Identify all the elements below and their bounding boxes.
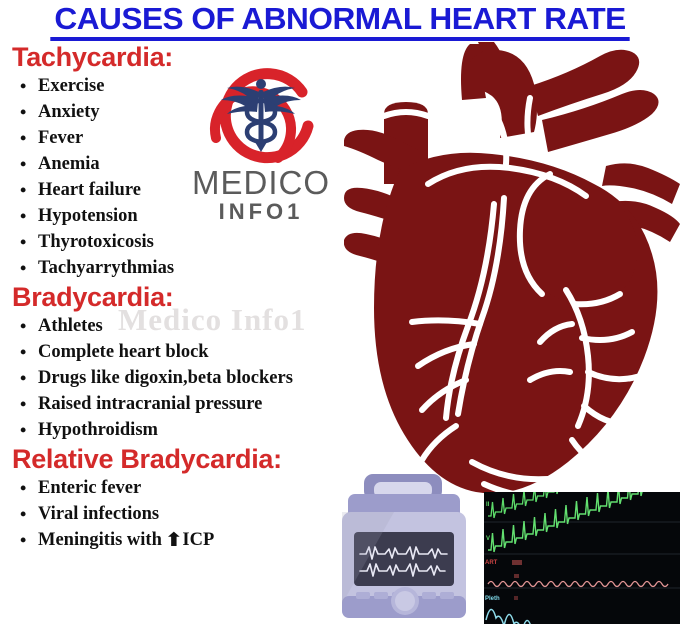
list-item: •Fever bbox=[0, 125, 372, 151]
list-bradycardia: •Athletes •Complete heart block •Drugs l… bbox=[0, 313, 372, 443]
list-item-label: Anxiety bbox=[38, 102, 100, 122]
list-item: •Meningitis with ⬆ICP bbox=[0, 527, 372, 553]
increased-arrow-icon: ⬆ bbox=[165, 531, 183, 550]
bullet-icon: • bbox=[20, 501, 26, 527]
bullet-icon: • bbox=[20, 365, 26, 391]
list-item: •Raised intracranial pressure bbox=[0, 391, 372, 417]
list-item: •Heart failure bbox=[0, 177, 372, 203]
list-item: •Enteric fever bbox=[0, 475, 372, 501]
bullet-icon: • bbox=[20, 475, 26, 501]
list-tachycardia: •Exercise •Anxiety •Fever •Anemia •Heart… bbox=[0, 73, 372, 281]
list-item-label: Exercise bbox=[38, 76, 104, 96]
list-item: •Hypotension bbox=[0, 203, 372, 229]
bullet-icon: • bbox=[20, 417, 26, 443]
bullet-icon: • bbox=[20, 177, 26, 203]
causes-content: Tachycardia: •Exercise •Anxiety •Fever •… bbox=[0, 40, 372, 553]
list-item-label: Complete heart block bbox=[38, 342, 209, 362]
list-item-label: Tachyarrythmias bbox=[38, 258, 174, 278]
list-item: •Athletes bbox=[0, 313, 372, 339]
section-heading-bradycardia: Bradycardia: bbox=[12, 282, 372, 312]
patient-monitor-device bbox=[334, 470, 486, 624]
list-item: •Complete heart block bbox=[0, 339, 372, 365]
list-item-label: Enteric fever bbox=[38, 478, 141, 498]
bullet-icon: • bbox=[20, 73, 26, 99]
list-relative-bradycardia: •Enteric fever •Viral infections •Mening… bbox=[0, 475, 372, 553]
list-item-label: Raised intracranial pressure bbox=[38, 394, 262, 414]
list-item: •Drugs like digoxin,beta blockers bbox=[0, 365, 372, 391]
list-item: •Anxiety bbox=[0, 99, 372, 125]
list-item-label: Anemia bbox=[38, 154, 100, 174]
list-item-label: Viral infections bbox=[38, 504, 159, 524]
list-item-label: Athletes bbox=[38, 316, 103, 336]
list-item-label: Hypotension bbox=[38, 206, 138, 226]
list-item: •Exercise bbox=[0, 73, 372, 99]
list-item: •Tachyarrythmias bbox=[0, 255, 372, 281]
list-item: •Hypothroidism bbox=[0, 417, 372, 443]
bullet-icon: • bbox=[20, 391, 26, 417]
ecg-label-art: ART bbox=[485, 560, 497, 567]
ecg-screen-photo: II V ART Pleth bbox=[484, 492, 680, 624]
anatomical-heart-illustration bbox=[344, 42, 680, 520]
infographic-poster: CAUSES OF ABNORMAL HEART RATE Medico Inf… bbox=[0, 0, 680, 624]
list-item: •Viral infections bbox=[0, 501, 372, 527]
bullet-icon: • bbox=[20, 99, 26, 125]
list-item-label: Hypothroidism bbox=[38, 420, 158, 440]
list-item-label: Meningitis with bbox=[38, 530, 166, 550]
bullet-icon: • bbox=[20, 527, 26, 553]
ecg-label-pleth: Pleth bbox=[485, 596, 500, 603]
ecg-lead-label-v: V bbox=[486, 536, 490, 543]
bullet-icon: • bbox=[20, 339, 26, 365]
list-item-label: Thyrotoxicosis bbox=[38, 232, 154, 252]
bullet-icon: • bbox=[20, 255, 26, 281]
list-item: •Anemia bbox=[0, 151, 372, 177]
bullet-icon: • bbox=[20, 229, 26, 255]
bullet-icon: • bbox=[20, 313, 26, 339]
ecg-lead-label-ii: II bbox=[486, 502, 489, 509]
list-item: •Thyrotoxicosis bbox=[0, 229, 372, 255]
bullet-icon: • bbox=[20, 125, 26, 151]
list-item-label: Heart failure bbox=[38, 180, 141, 200]
section-heading-relative-bradycardia: Relative Bradycardia: bbox=[12, 444, 372, 474]
list-item-label: Drugs like digoxin,beta blockers bbox=[38, 368, 293, 388]
section-heading-tachycardia: Tachycardia: bbox=[12, 42, 372, 72]
list-item-suffix: ICP bbox=[182, 530, 214, 550]
list-item-label: Fever bbox=[38, 128, 83, 148]
page-title: CAUSES OF ABNORMAL HEART RATE bbox=[50, 2, 630, 41]
bullet-icon: • bbox=[20, 203, 26, 229]
bullet-icon: • bbox=[20, 151, 26, 177]
poster-title-wrap: CAUSES OF ABNORMAL HEART RATE bbox=[0, 2, 680, 41]
